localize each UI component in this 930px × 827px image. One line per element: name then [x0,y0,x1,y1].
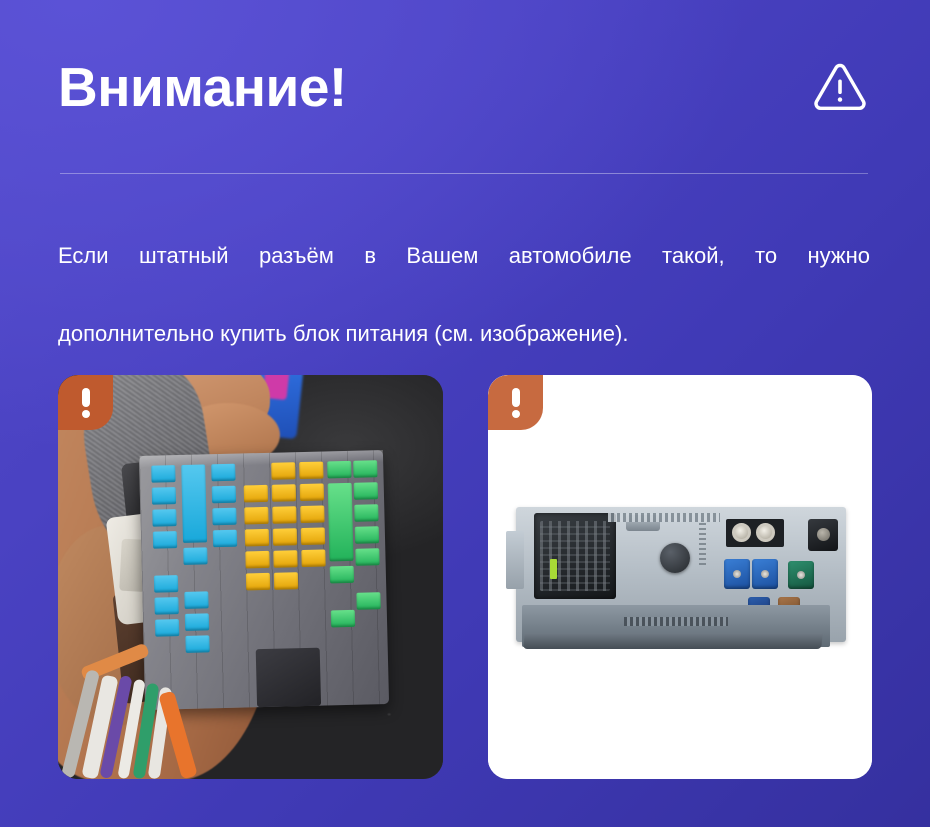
vertical-marking [699,523,706,565]
round-knob [660,543,690,573]
exclamation-icon [82,388,90,418]
notice-line-2: дополнительно купить блок питания (см. и… [58,314,870,353]
power-supply-card[interactable] [488,375,872,779]
housing-notch [256,648,321,708]
pin-column-green-2 [353,460,381,610]
banner-header: Внимание! [58,56,872,136]
page-title: Внимание! [58,56,872,118]
pin-column-green-1 [327,461,355,628]
black-connector-block [534,513,616,599]
warning-triangle-icon [812,60,868,116]
pin-column-cyan-1 [151,465,179,637]
pin-column-yellow-1 [243,463,270,591]
car-connector-photo [58,375,443,779]
front-text-bar [624,617,728,626]
fakra-blue-1 [724,559,750,589]
power-supply-module [516,497,846,665]
module-label [608,513,720,522]
right-card-badge [488,375,543,430]
attention-banner: Внимание! Если штатный разъём в Вашем ав… [0,0,930,827]
pin-column-yellow-3 [299,462,326,568]
pin-column-cyan-2 [181,464,210,653]
power-supply-photo [488,375,872,779]
module-side-tab [506,531,524,589]
fakra-blue-2 [752,559,778,589]
fakra-green [788,561,814,589]
grey-connector-housing [139,450,389,710]
coax-connector-1 [732,523,751,542]
green-lock-tab [550,559,557,579]
notice-line-1: Если штатный разъём в Вашем автомобиле т… [58,236,870,314]
left-card-badge [58,375,113,430]
image-cards [58,375,872,779]
black-bolt-socket [808,519,838,551]
pin-column-cyan-3 [211,464,238,592]
exclamation-icon [512,388,520,418]
module-base [523,633,823,649]
pin-column-yellow-2 [271,462,298,590]
header-divider [60,173,868,174]
coax-connector-2 [756,523,775,542]
car-connector-card[interactable] [58,375,443,779]
notice-text: Если штатный разъём в Вашем автомобиле т… [58,236,870,353]
